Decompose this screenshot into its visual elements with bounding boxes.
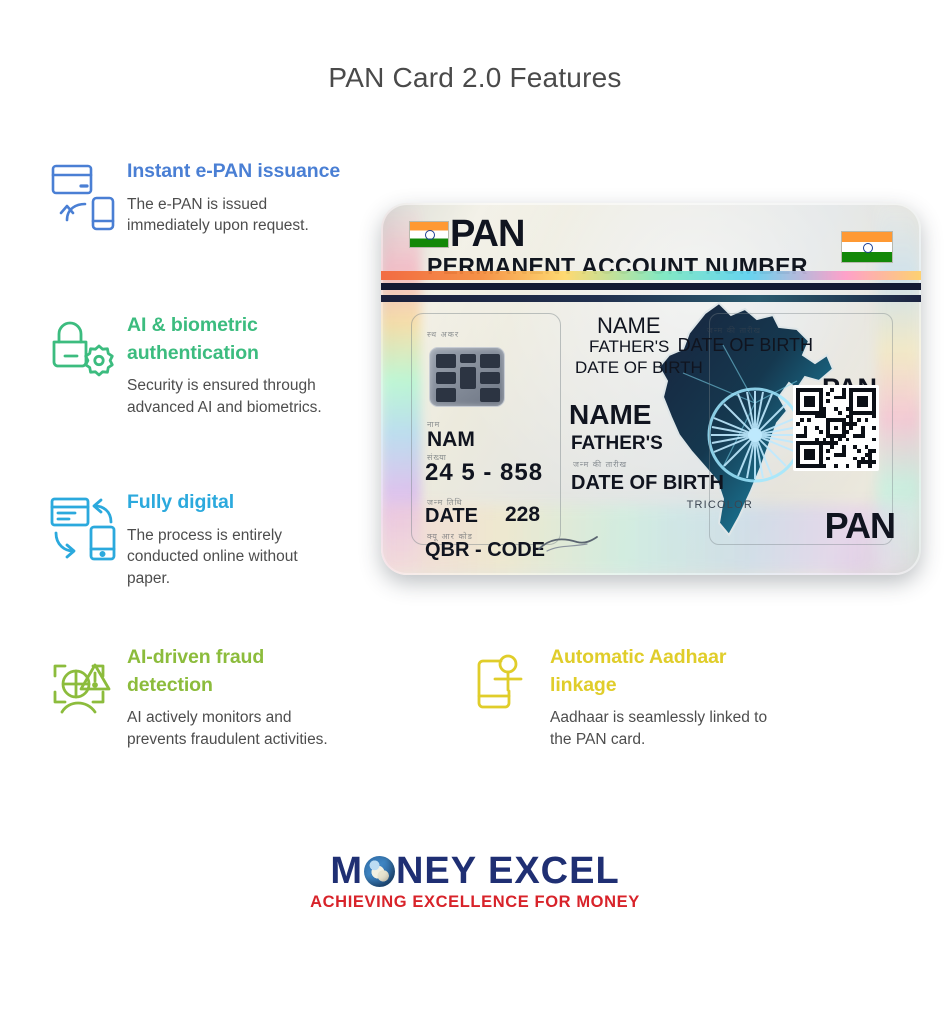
feature-description: The process is entirely conducted online…: [127, 525, 345, 590]
right-dob-label: DATE OF BIRTH: [678, 335, 813, 356]
logo-tagline: ACHIEVING EXCELLENCE FOR MONEY: [0, 893, 950, 912]
feature-title: AI & biometric authentication: [127, 312, 365, 367]
feature-title: AI-driven fraud detection: [127, 644, 345, 699]
center-name-large: NAME: [569, 399, 651, 431]
money-excel-logo: MNEY EXCEL ACHIEVING EXCELLENCE FOR MONE…: [0, 852, 950, 912]
logo-text-after: NEY EXCEL: [396, 850, 620, 892]
pan-card-header: PANPERMANENT ACCOUNT NUMBER: [409, 215, 897, 267]
emv-chip-icon: [429, 347, 505, 407]
pan-card-image: PANPERMANENT ACCOUNT NUMBER स्थ अकर: [381, 203, 921, 575]
hologram-rainbow-band: [381, 271, 921, 280]
qr-code-icon: [793, 385, 879, 471]
page-title: PAN Card 2.0 Features: [0, 62, 950, 94]
left-name-label: NAM: [427, 428, 475, 452]
feature-fully-digital: Fully digital The process is entirely co…: [45, 489, 345, 590]
card-to-phone-icon: [45, 158, 121, 234]
card-phone-sync-icon: [45, 489, 121, 565]
center-name-small: NAME: [597, 313, 661, 339]
feature-title: Fully digital: [127, 489, 345, 517]
center-dob-large: DATE OF BIRTH: [571, 472, 724, 495]
feature-title: Automatic Aadhaar linkage: [550, 644, 768, 699]
center-fathers-small: FATHER'S: [589, 337, 669, 357]
feature-description: Aadhaar is seamlessly linked to the PAN …: [550, 707, 768, 750]
feature-description: AI actively monitors and prevents fraudu…: [127, 707, 345, 750]
center-dob-small: DATE OF BIRTH: [575, 358, 703, 378]
infographic-page: PAN Card 2.0 Features Instant e-PAN issu…: [0, 0, 950, 1023]
center-fathers-large: FATHER'S: [571, 433, 663, 455]
feature-description: The e-PAN is issued immediately upon req…: [127, 194, 345, 237]
feature-description: Security is ensured through advanced AI …: [127, 375, 365, 418]
feature-title: Instant e-PAN issuance: [127, 158, 345, 186]
right-pan-big: PAN: [825, 505, 895, 547]
left-date-label: DATE: [425, 505, 478, 528]
india-flag-icon: [409, 221, 449, 248]
left-panel-hindi-line: स्थ अकर: [427, 329, 459, 340]
person-phone-icon: [468, 644, 544, 720]
lock-gear-icon: [45, 312, 121, 388]
feature-instant-epan-issuance: Instant e-PAN issuance The e-PAN is issu…: [45, 158, 345, 237]
left-date-value: 228: [505, 503, 540, 527]
tricolor-label: TRICOLOR: [687, 499, 753, 511]
feature-ai-biometric-authentication: AI & biometric authentication Security i…: [45, 312, 365, 419]
pan-card-body: स्थ अकर नाम NAM संख्या 24 5 - 858 जन्म त…: [381, 307, 921, 575]
center-dob-hindi: जन्म की तारीख: [573, 459, 627, 470]
globe-icon: [364, 856, 395, 887]
face-scan-warning-icon: [45, 644, 121, 720]
feature-automatic-aadhaar-linkage: Automatic Aadhaar linkage Aadhaar is sea…: [468, 644, 768, 751]
pan-card-pan-label: PAN: [450, 215, 524, 253]
signature-mark-icon: [537, 535, 601, 553]
left-number-value: 24 5 - 858: [425, 459, 543, 487]
left-qr-label: QBR - CODE: [425, 539, 545, 562]
india-flag-icon-right: [841, 231, 893, 263]
feature-ai-driven-fraud-detection: AI-driven fraud detection AI actively mo…: [45, 644, 345, 751]
logo-text-before: M: [330, 850, 363, 892]
